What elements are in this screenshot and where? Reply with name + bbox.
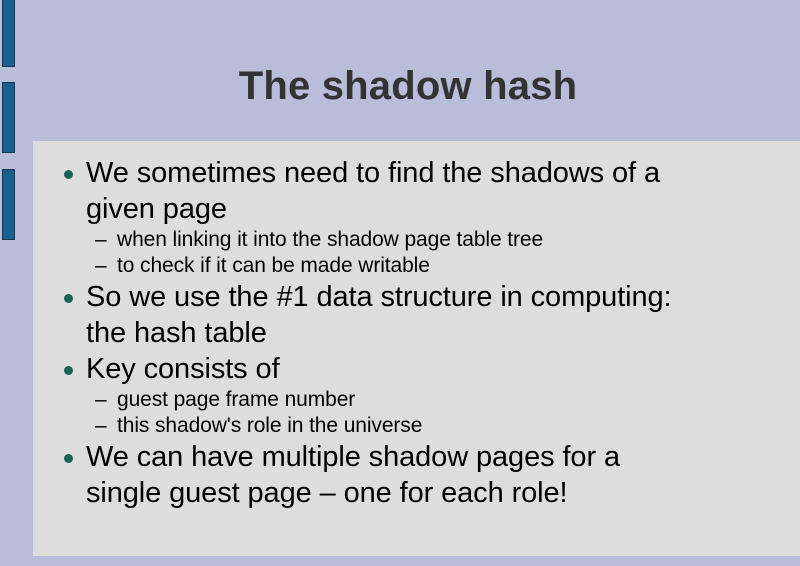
list-item-label: this shadow's role in the universe: [117, 414, 422, 437]
slide-title: The shadow hash: [33, 62, 783, 124]
list-item-label: We can have multiple shadow pages for a …: [86, 439, 686, 511]
list-item: – guest page frame number: [33, 387, 800, 413]
dash-icon: –: [95, 253, 107, 279]
bullet-dot-icon: [64, 170, 73, 179]
bullet-dot-icon: [64, 366, 73, 375]
bullet-dot-icon: [64, 294, 73, 303]
bullet-list: We sometimes need to find the shadows of…: [33, 141, 800, 511]
accent-bar-3: [2, 169, 15, 240]
list-item-label: to check if it can be made writable: [117, 254, 430, 277]
accent-bar-2: [2, 82, 15, 153]
dash-icon: –: [95, 387, 107, 413]
list-item-label: when linking it into the shadow page tab…: [117, 228, 543, 251]
list-item: – this shadow's role in the universe: [33, 413, 800, 439]
list-item-label: So we use the #1 data structure in compu…: [86, 279, 686, 351]
list-item: Key consists of: [33, 351, 800, 387]
slide-content-panel: We sometimes need to find the shadows of…: [33, 141, 800, 556]
list-item: – to check if it can be made writable: [33, 253, 800, 279]
list-item: We can have multiple shadow pages for a …: [33, 439, 800, 511]
presentation-slide: The shadow hash We sometimes need to fin…: [0, 0, 800, 566]
dash-icon: –: [95, 413, 107, 439]
accent-bar-1: [2, 0, 15, 67]
list-item: – when linking it into the shadow page t…: [33, 227, 800, 253]
list-item: We sometimes need to find the shadows of…: [33, 155, 800, 227]
list-item: So we use the #1 data structure in compu…: [33, 279, 800, 351]
dash-icon: –: [95, 227, 107, 253]
bullet-dot-icon: [64, 454, 73, 463]
list-item-label: guest page frame number: [117, 388, 355, 411]
list-item-label: We sometimes need to find the shadows of…: [86, 155, 686, 227]
list-item-label: Key consists of: [86, 351, 686, 387]
